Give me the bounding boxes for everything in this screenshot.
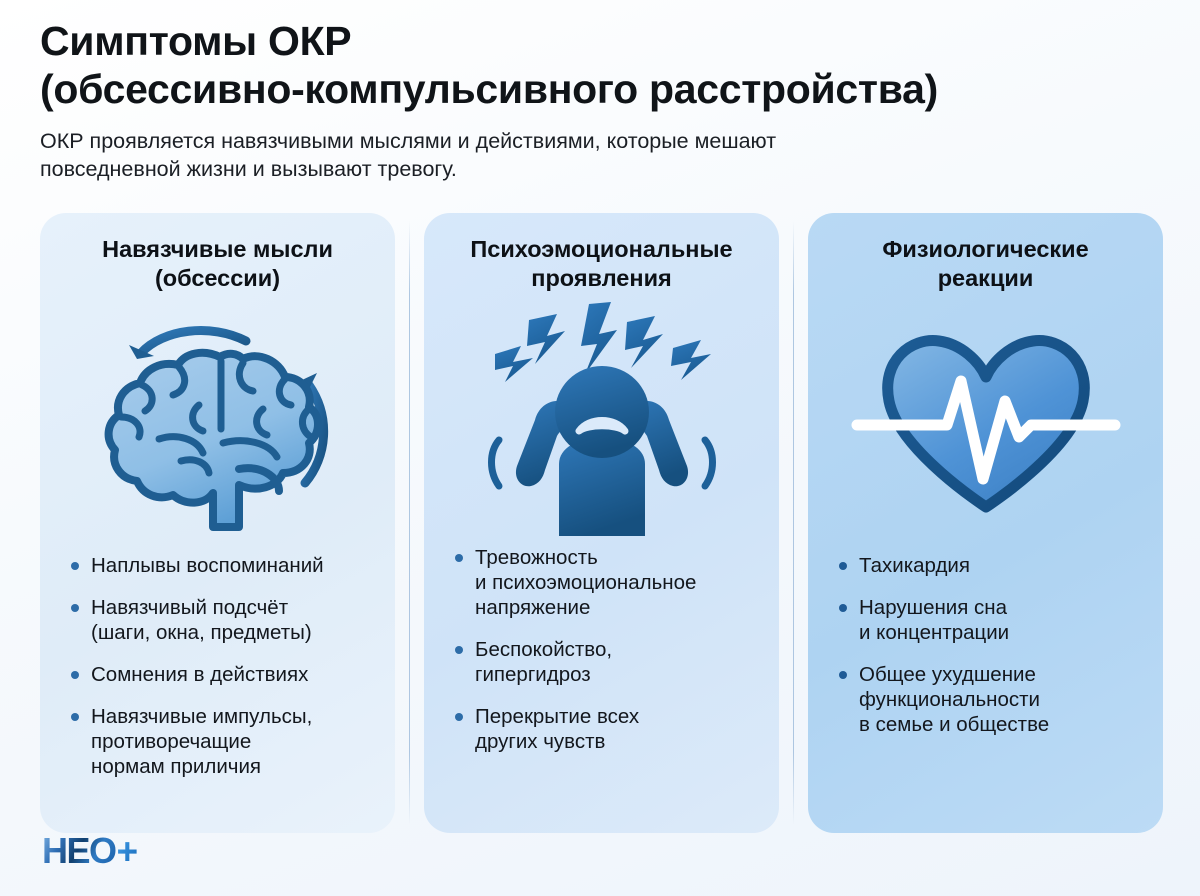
card-title: Психоэмоциональные проявления: [446, 235, 757, 295]
list-item: Беспокойство, гипергидроз: [454, 637, 753, 687]
list-item: Нарушения сна и концентрации: [838, 595, 1137, 645]
card-divider: [793, 221, 794, 825]
list-item: Сомнения в действиях: [70, 662, 369, 687]
list-item: Тревожность и психоэмоциональное напряже…: [454, 545, 753, 620]
page-subtitle: ОКР проявляется навязчивыми мыслями и де…: [40, 128, 1070, 184]
infographic-page: Симптомы ОКР (обсессивно-компульсивного …: [0, 0, 1200, 896]
list-item: Навязчивый подсчёт (шаги, окна, предметы…: [70, 595, 369, 645]
symptom-list: Наплывы воспоминаний Навязчивый подсчёт …: [62, 553, 373, 796]
list-item: Перекрытие всех других чувств: [454, 704, 753, 754]
list-item: Общее ухудшение функциональности в семье…: [838, 662, 1137, 737]
stressed-person-icon: [446, 295, 757, 545]
symptom-list: Тревожность и психоэмоциональное напряже…: [446, 545, 757, 771]
card-physiological: Физиологические реакции: [808, 213, 1163, 833]
list-item: Навязчивые импульсы, противоречащие норм…: [70, 704, 369, 779]
brain-cycle-icon: [62, 295, 373, 553]
symptom-cards-row: Навязчивые мысли (обсессии): [40, 213, 1170, 833]
page-title: Симптомы ОКР (обсессивно-компульсивного …: [40, 18, 1170, 113]
brand-logo-plus-icon: +: [117, 833, 139, 870]
card-divider: [409, 221, 410, 825]
card-obsessive-thoughts: Навязчивые мысли (обсессии): [40, 213, 395, 833]
list-item: Наплывы воспоминаний: [70, 553, 369, 578]
heart-pulse-icon: [830, 295, 1141, 553]
card-psychoemotional: Психоэмоциональные проявления: [424, 213, 779, 833]
list-item: Тахикардия: [838, 553, 1137, 578]
card-title: Физиологические реакции: [830, 235, 1141, 295]
symptom-list: Тахикардия Нарушения сна и концентрации …: [830, 553, 1141, 754]
header: Симптомы ОКР (обсессивно-компульсивного …: [40, 18, 1170, 184]
brand-logo[interactable]: НЕО +: [42, 831, 138, 871]
brand-logo-text: НЕО: [42, 833, 116, 869]
card-title: Навязчивые мысли (обсессии): [62, 235, 373, 295]
